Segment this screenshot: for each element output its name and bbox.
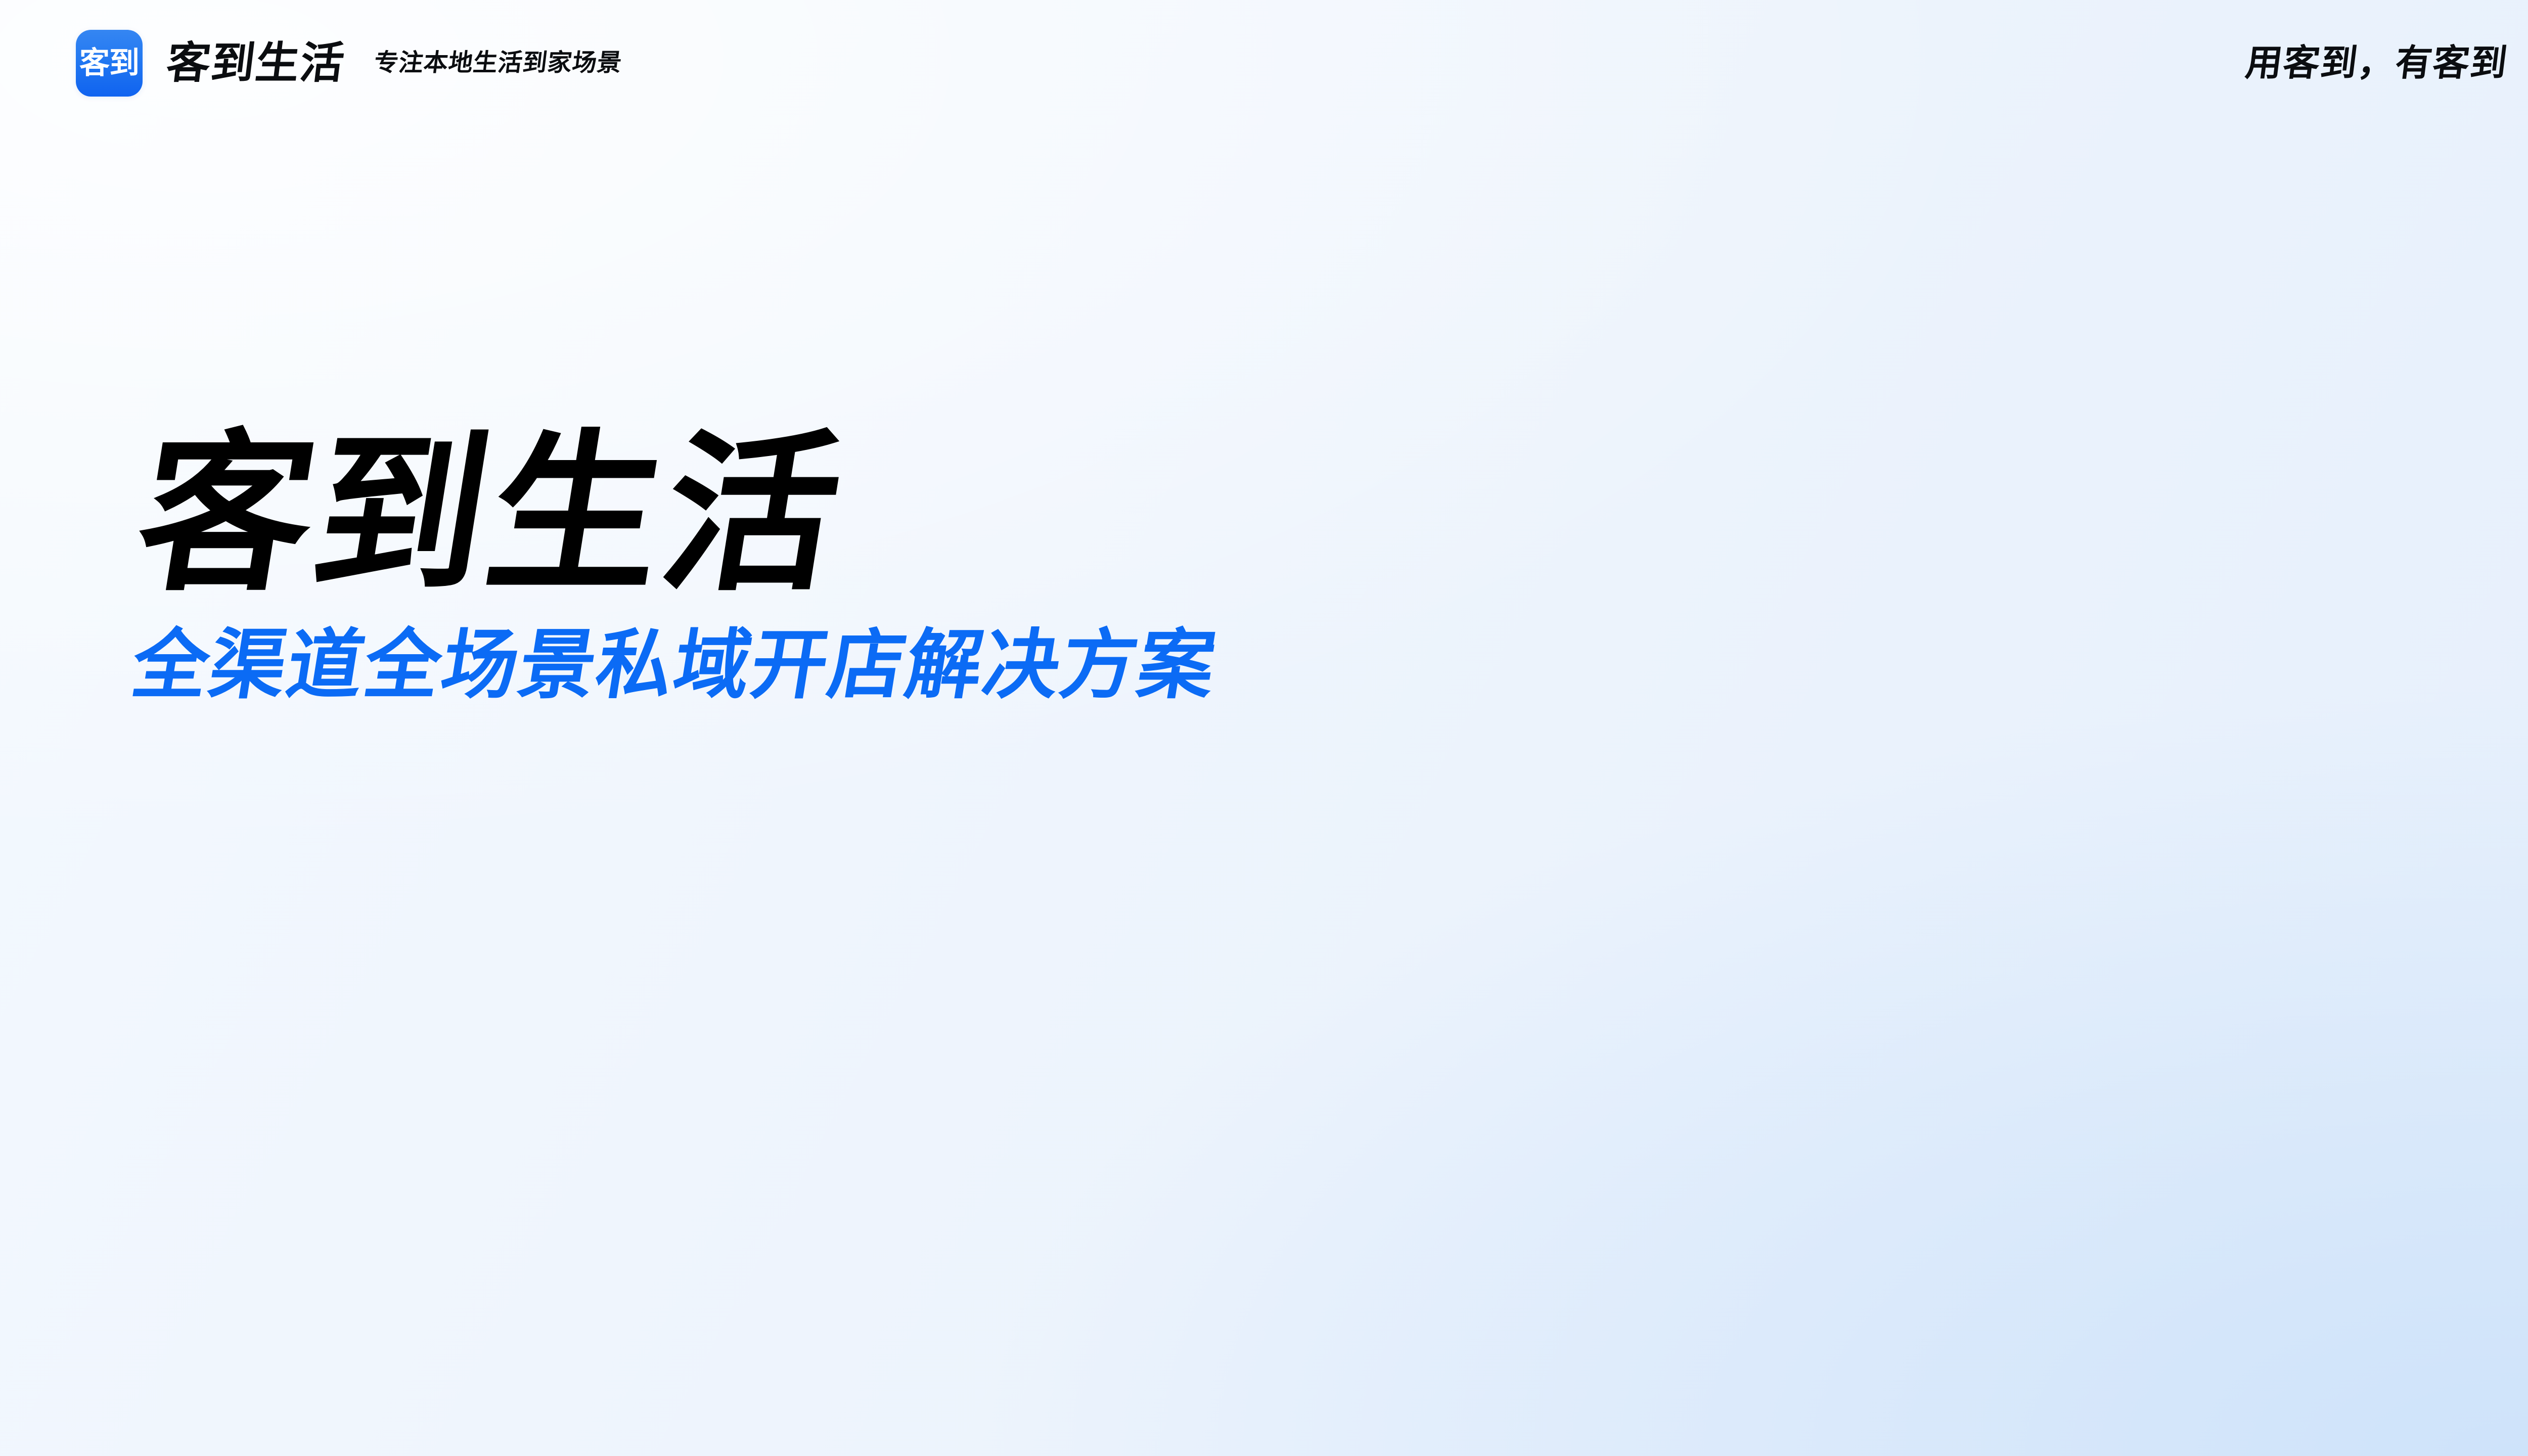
hero-block: 客到生活 全渠道全场景私域开店解决方案 bbox=[126, 425, 1947, 707]
brand-logo-text: 客到 bbox=[79, 48, 139, 78]
hero-subheadline: 全渠道全场景私域开店解决方案 bbox=[126, 623, 1960, 707]
brand-cluster[interactable]: 客到 客到生活 专注本地生活到家场景 bbox=[76, 30, 622, 97]
header-slogan: 用客到，有客到 bbox=[2244, 45, 2510, 81]
hero-headline: 客到生活 bbox=[126, 425, 1975, 605]
brand-logo-badge[interactable]: 客到 bbox=[76, 30, 143, 97]
hero-page: 客到 客到生活 专注本地生活到家场景 用客到，有客到 客到生活 全渠道全场景私域… bbox=[0, 0, 2528, 1456]
brand-tagline: 专注本地生活到家场景 bbox=[373, 51, 623, 75]
site-header: 客到 客到生活 专注本地生活到家场景 用客到，有客到 bbox=[0, 0, 2528, 126]
brand-name: 客到生活 bbox=[164, 41, 348, 85]
